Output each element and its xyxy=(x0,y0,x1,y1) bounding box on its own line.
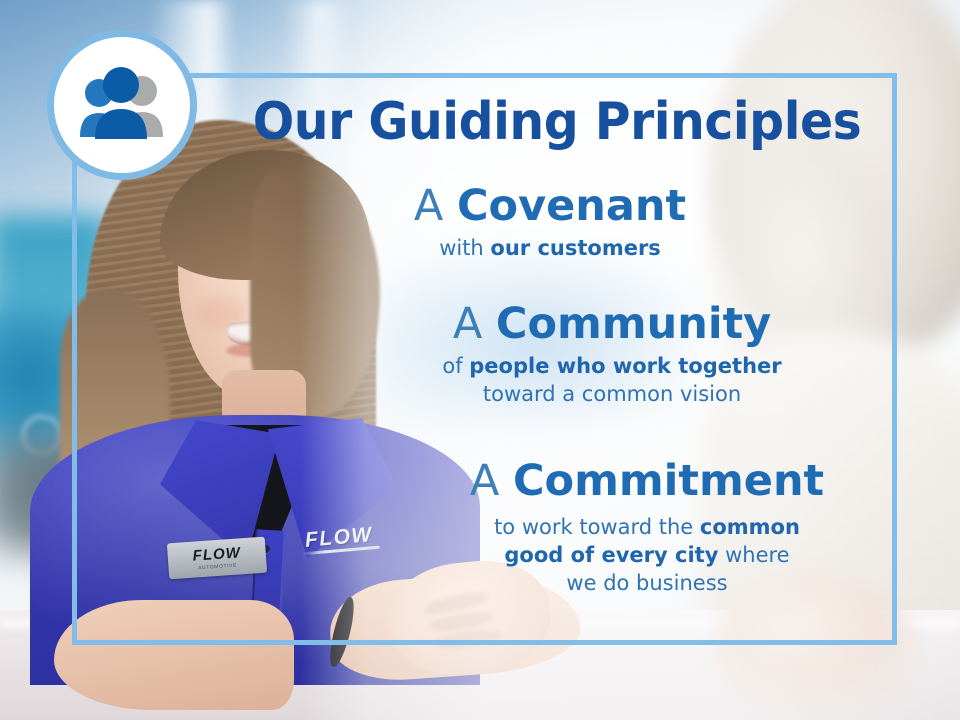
principle-keyword: Community xyxy=(496,299,771,349)
poster-content: Our Guiding Principles A Covenant with o… xyxy=(72,73,897,645)
principle-article: A xyxy=(453,299,496,349)
principle-detail-part: with xyxy=(439,236,490,260)
principle-detail-part: of xyxy=(442,354,469,378)
principle-detail: with our customers xyxy=(350,235,750,263)
principle-detail-emphasis: good of every city xyxy=(504,543,718,567)
principle-detail-emphasis: common xyxy=(700,515,800,539)
principle-detail-part: toward a common vision xyxy=(483,382,741,406)
principle-detail: to work toward the common good of every … xyxy=(402,514,892,597)
principle-keyword: Commitment xyxy=(513,456,824,506)
principle-community: A Community of people who work together … xyxy=(372,301,852,409)
principle-heading: A Community xyxy=(372,301,852,347)
guiding-principles-poster: FLOW AUTOMOTIVE FLOW xyxy=(0,0,960,720)
principle-heading: A Covenant xyxy=(350,183,750,229)
principle-detail-emphasis: our customers xyxy=(490,236,660,260)
page-title: Our Guiding Principles xyxy=(242,96,872,148)
principle-detail-part: to work toward the xyxy=(494,515,700,539)
principle-detail-emphasis: people who work together xyxy=(469,354,781,378)
principle-detail-part: where xyxy=(718,543,789,567)
principle-commitment: A Commitment to work toward the common g… xyxy=(402,458,892,598)
principle-article: A xyxy=(470,456,513,506)
principle-detail-part: we do business xyxy=(566,571,727,595)
principle-heading: A Commitment xyxy=(402,458,892,504)
principle-covenant: A Covenant with our customers xyxy=(350,183,750,263)
principle-detail: of people who work together toward a com… xyxy=(372,353,852,408)
principle-article: A xyxy=(414,181,457,231)
principle-keyword: Covenant xyxy=(457,181,686,231)
